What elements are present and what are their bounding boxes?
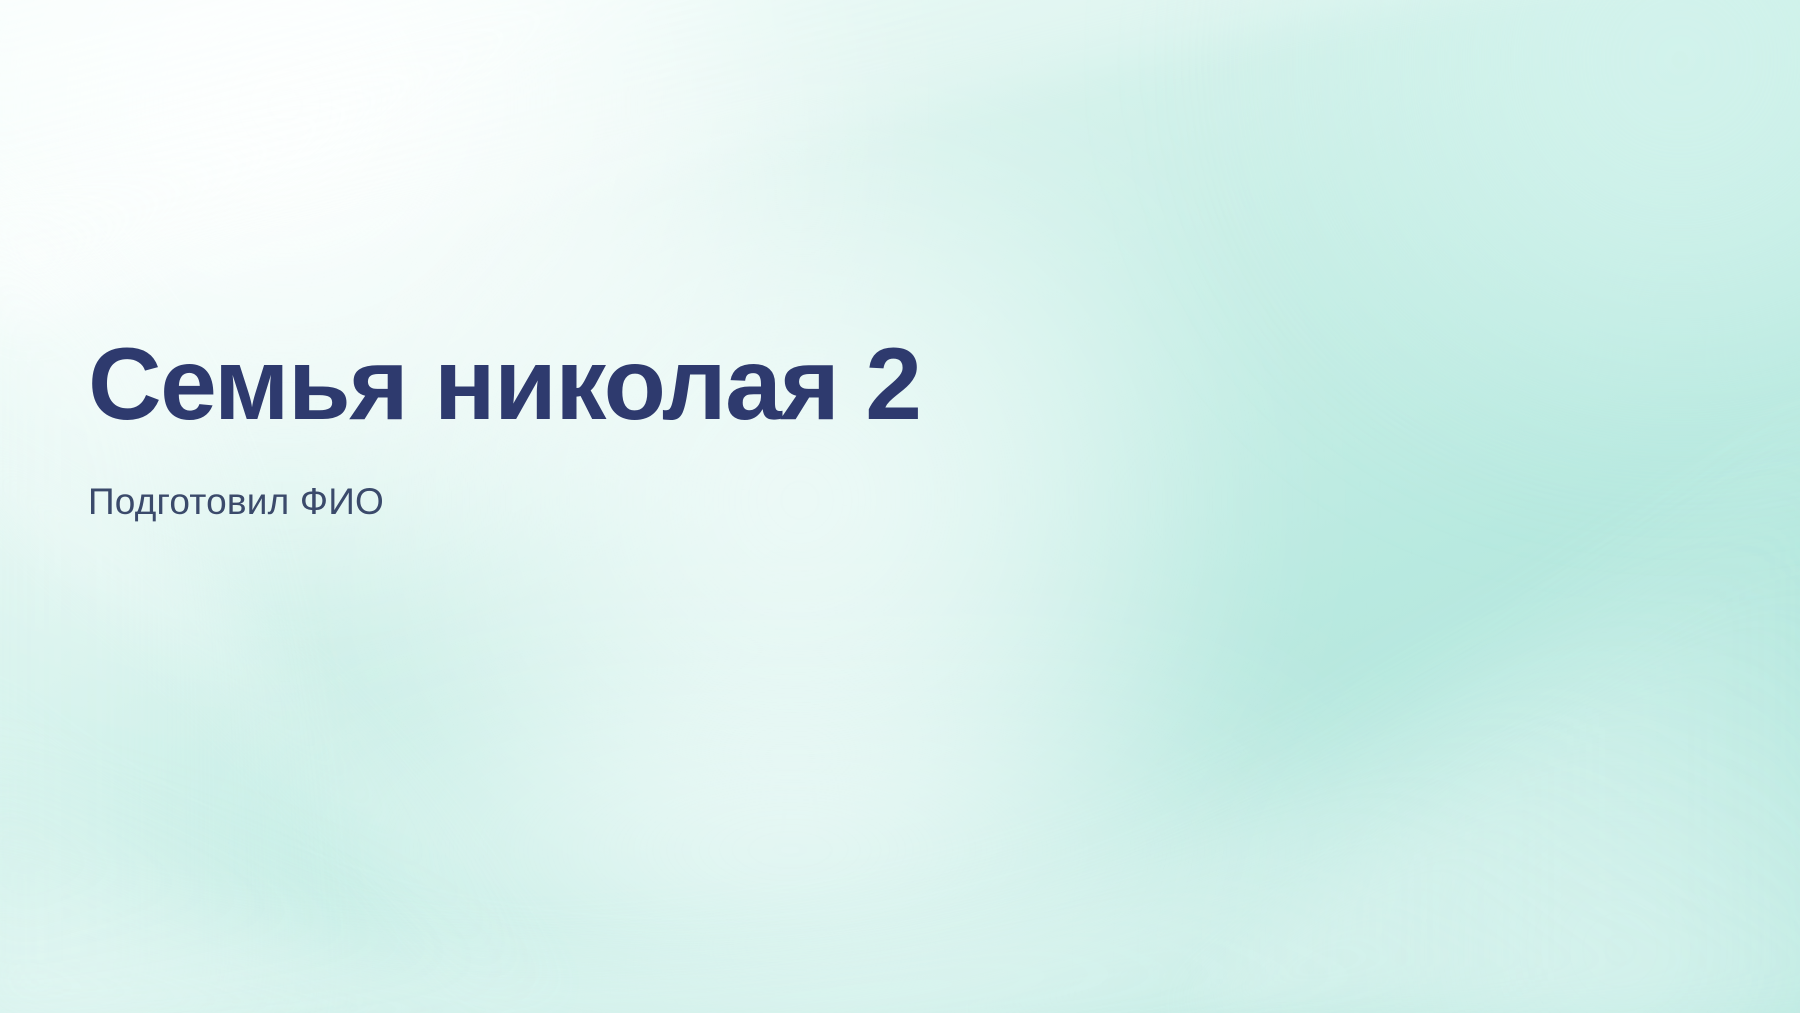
title-block: Семья николая 2 Подготовил ФИО [88, 330, 1488, 525]
background-glow-lower-band [200, 640, 1380, 1013]
wave-center-band [0, 120, 330, 1013]
background-glow-top-left [0, 0, 910, 630]
background-glow-bottom-right [1190, 640, 1800, 1013]
wave-upper-left [0, 0, 760, 330]
page-title: Семья николая 2 [88, 330, 1488, 438]
wave-top-sweep [0, 0, 1800, 330]
slide-subtitle: Подготовил ФИО [88, 438, 1488, 524]
title-slide: Семья николая 2 Подготовил ФИО [0, 0, 1800, 1013]
wave-bottom-right [1180, 520, 1800, 1013]
wave-depth-bottom-left [0, 760, 640, 1013]
